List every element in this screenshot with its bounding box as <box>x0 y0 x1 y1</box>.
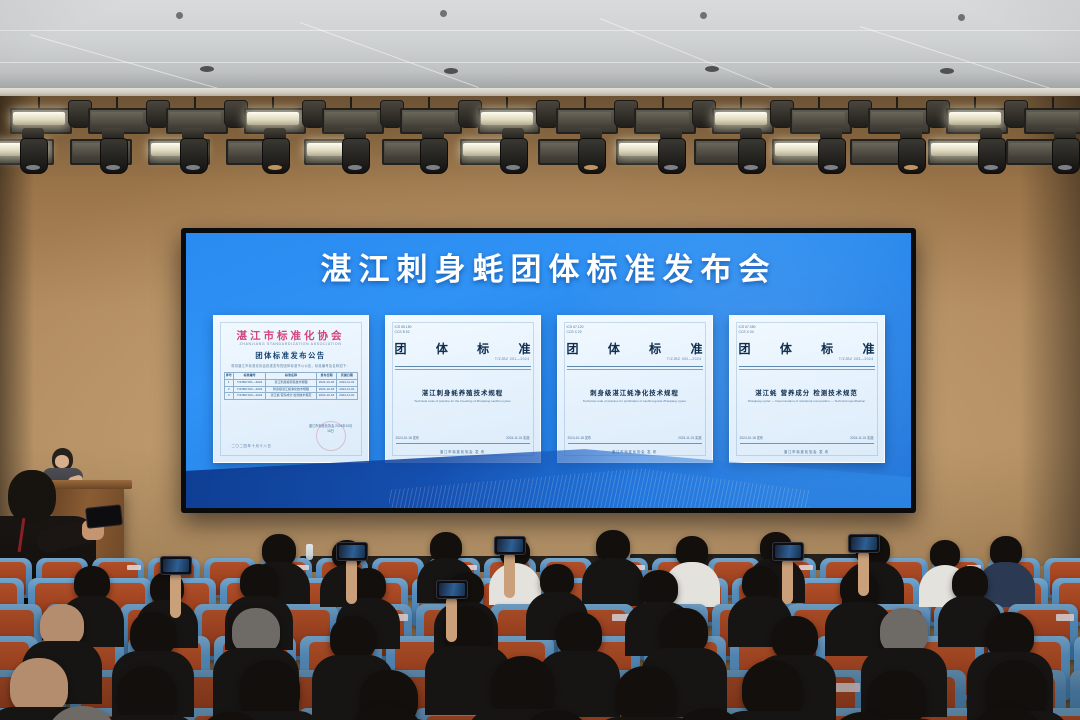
screen-title: 湛江刺身蚝团体标准发布会 <box>186 255 911 286</box>
association-name-en: ZHANJIANG STANDARDIZATION ASSOCIATION <box>214 342 368 346</box>
audience-member-head <box>742 566 778 600</box>
moving-head-light <box>100 128 126 172</box>
seat-number-label <box>835 683 860 692</box>
std-title-en: Technical code of practice for the breed… <box>396 399 530 404</box>
std-header-char: 体 <box>780 340 792 357</box>
stage-light-fixture <box>634 97 692 131</box>
smartphone-icon <box>436 580 468 599</box>
official-seal: 湛江市标准化协会 2024年10月18日 <box>308 424 354 434</box>
table-header-cell: 发布日期 <box>316 373 337 380</box>
std-header-char: 标 <box>649 340 661 357</box>
audience-member-head <box>990 536 1022 566</box>
announcement-date: 二〇二四年十月十八日 <box>232 443 272 448</box>
table-cell: 2 <box>224 386 233 393</box>
std-header-char: 准 <box>518 340 530 357</box>
std-header-char: 体 <box>436 340 448 357</box>
std-classification-code: ICS 67.050CCS X 04 <box>739 325 756 335</box>
smartphone-icon <box>772 542 804 561</box>
audience-member-head <box>118 666 176 720</box>
audience-member-head <box>676 536 708 566</box>
table-row: 3T/ZJBZ 003—2024湛江蚝 营养成分 检测技术规范2024-10-1… <box>224 393 357 400</box>
table-cell: T/ZJBZ 003—2024 <box>233 393 265 400</box>
std-number: T/ZJBZ 002—2024 <box>667 357 702 361</box>
standard-card: ICS 67.120CCS X 20团体标准T/ZJBZ 002—2024刺身级… <box>557 315 713 463</box>
audience-member-head <box>240 660 300 718</box>
association-name: 湛江市标准化协会 <box>214 328 368 343</box>
std-header-char: 体 <box>608 340 620 357</box>
moving-head-light <box>978 128 1004 172</box>
moving-head-light <box>500 128 526 172</box>
audience-member-head <box>540 564 574 596</box>
audience-member-head <box>868 670 926 720</box>
audience-member-head <box>930 540 960 568</box>
audience-member-head <box>40 604 84 646</box>
table-cell: 2024-10-18 <box>316 386 337 393</box>
standard-card: ICS 65.150CCS B 52团体标准T/ZJBZ 001—2024湛江刺… <box>385 315 541 463</box>
presenter-face <box>55 455 69 468</box>
table-header-cell: 序号 <box>224 373 233 380</box>
standard-card: ICS 67.050CCS X 04团体标准T/ZJBZ 003—2024湛江蚝… <box>729 315 885 463</box>
announcement-card: 湛江市标准化协会 ZHANJIANG STANDARDIZATION ASSOC… <box>213 315 369 463</box>
audience-member-head <box>232 608 280 654</box>
audience-area <box>0 520 1080 720</box>
audience-member-head <box>330 616 376 660</box>
moving-head-light <box>738 128 764 172</box>
table-cell: 1 <box>224 379 233 386</box>
camera-operator-head <box>8 470 56 524</box>
audience-member-head <box>616 666 676 720</box>
stage-light-fixture <box>478 97 536 131</box>
raised-arm <box>782 558 793 604</box>
table-cell: 湛江刺身蚝养殖技术规程 <box>266 379 316 386</box>
seal-ring <box>316 421 346 451</box>
table-row: 1T/ZJBZ 001—2024湛江刺身蚝养殖技术规程2024-10-18202… <box>224 379 357 386</box>
stage-light-fixture <box>790 97 848 131</box>
std-title: 刺身级湛江蚝净化技术规程 <box>570 388 700 397</box>
table-cell: 3 <box>224 393 233 400</box>
std-effective-date: 2024-11-01 实施 <box>678 435 701 440</box>
table-cell: 湛江蚝 营养成分 检测技术规范 <box>266 393 316 400</box>
raised-arm <box>858 550 869 596</box>
std-classification-code: ICS 67.120CCS X 20 <box>567 325 584 335</box>
audience-member-head <box>640 570 678 606</box>
stage-light-fixture <box>88 97 146 131</box>
std-publish-date: 2024-10-18 发布 <box>568 435 592 440</box>
seat-number-label <box>127 565 141 570</box>
table-header-cell: 标准名称 <box>266 373 316 380</box>
smartphone-icon <box>160 556 192 575</box>
stage-light-fixture <box>322 97 380 131</box>
audience-member-head <box>492 656 554 716</box>
std-header-char: 标 <box>477 340 489 357</box>
stage-light-fixture <box>166 97 224 131</box>
moving-head-light <box>1052 128 1078 172</box>
stage-light-fixture <box>712 97 770 131</box>
stage-light-fixture <box>556 97 614 131</box>
water-bottle <box>306 544 313 560</box>
std-dates: 2024-10-18 发布2024-11-01 实施 <box>740 435 874 440</box>
audience-member-head <box>660 608 708 654</box>
seat-number-label <box>799 565 813 570</box>
std-effective-date: 2024-11-01 实施 <box>506 435 529 440</box>
std-header: 团体标准 <box>739 340 875 357</box>
audience-member-head <box>742 660 802 718</box>
table-header-cell: 实施日期 <box>337 373 357 380</box>
audience-member-head <box>10 658 68 714</box>
moving-head-light <box>658 128 684 172</box>
std-publish-date: 2024-10-18 发布 <box>740 435 764 440</box>
std-header-char: 标 <box>821 340 833 357</box>
std-header: 团体标准 <box>395 340 531 357</box>
audience-member-head <box>556 612 602 656</box>
std-number: T/ZJBZ 003—2024 <box>839 357 874 361</box>
seat-number-label <box>1056 614 1074 621</box>
moving-head-light <box>342 128 368 172</box>
std-header-char: 团 <box>395 340 407 357</box>
smartphone-icon <box>336 542 368 561</box>
audience-member-head <box>240 564 278 600</box>
stage-light-fixture <box>400 97 458 131</box>
table-cell: 2024-11-01 <box>337 386 357 393</box>
table-row: 2T/ZJBZ 002—2024刺身级湛江蚝净化技术规程2024-10-1820… <box>224 386 357 393</box>
moving-head-light <box>262 128 288 172</box>
announcement-title: 团体标准发布公告 <box>214 351 368 361</box>
std-title-en: Technical code of practice for purificat… <box>568 399 702 404</box>
standards-table: 序号标准编号标准名称发布日期实施日期 1T/ZJBZ 001—2024湛江刺身蚝… <box>224 372 358 400</box>
table-cell: 2024-11-01 <box>337 393 357 400</box>
announcement-lead: 现将湛江市标准化协会批准发布的团体标准予以公告，标准编号及名称如下： <box>226 363 356 368</box>
led-screen: 湛江刺身蚝团体标准发布会 湛江市标准化协会 ZHANJIANG STANDARD… <box>186 233 911 508</box>
moving-head-light <box>898 128 924 172</box>
table-cell: 2024-10-18 <box>316 393 337 400</box>
stage-light-fixture <box>10 97 68 131</box>
std-publish-date: 2024-10-18 发布 <box>396 435 420 440</box>
table-cell: T/ZJBZ 001—2024 <box>233 379 265 386</box>
table-cell: 2024-10-18 <box>316 379 337 386</box>
audience-member-head <box>262 534 296 566</box>
table-header-row: 序号标准编号标准名称发布日期实施日期 <box>224 373 357 380</box>
raised-arm <box>446 596 457 642</box>
ceiling <box>0 0 1080 92</box>
raised-arm <box>504 552 515 598</box>
table-cell: T/ZJBZ 002—2024 <box>233 386 265 393</box>
std-title-en: Zhanjiang oyster — Determination of nutr… <box>740 399 874 404</box>
std-issuer: 湛江市标准化协会 发 布 <box>730 449 884 454</box>
std-number: T/ZJBZ 001—2024 <box>495 357 530 361</box>
std-effective-date: 2024-11-01 实施 <box>850 435 873 440</box>
led-screen-bezel: 湛江刺身蚝团体标准发布会 湛江市标准化协会 ZHANJIANG STANDARD… <box>181 228 916 513</box>
table-header-cell: 标准编号 <box>233 373 265 380</box>
raised-arm <box>346 558 357 604</box>
moving-head-light <box>578 128 604 172</box>
raised-arm <box>170 572 181 618</box>
stage-light-fixture <box>946 97 1004 131</box>
moving-head-light <box>818 128 844 172</box>
audience-member-head <box>952 566 988 600</box>
audience-member-head <box>880 608 928 654</box>
table-cell: 刺身级湛江蚝净化技术规程 <box>266 386 316 393</box>
audience-member-head <box>430 532 462 562</box>
moving-head-light <box>20 128 46 172</box>
table-cell: 2024-11-01 <box>337 379 357 386</box>
audience-member-head <box>986 612 1034 658</box>
smartphone-icon <box>848 534 880 553</box>
stage-light-fixture <box>868 97 926 131</box>
std-header-char: 团 <box>739 340 751 357</box>
standard-document-cards: 湛江市标准化协会 ZHANJIANG STANDARDIZATION ASSOC… <box>186 315 911 463</box>
std-dates: 2024-10-18 发布2024-11-01 实施 <box>396 435 530 440</box>
std-header: 团体标准 <box>567 340 703 357</box>
audience-member-head <box>596 530 630 562</box>
moving-head-light <box>180 128 206 172</box>
std-dates: 2024-10-18 发布2024-11-01 实施 <box>568 435 702 440</box>
std-header-char: 准 <box>690 340 702 357</box>
conference-hall-photo: 湛江刺身蚝团体标准发布会 湛江市标准化协会 ZHANJIANG STANDARD… <box>0 0 1080 720</box>
std-title: 湛江蚝 营养成分 检测技术规范 <box>742 388 872 397</box>
std-header-char: 准 <box>862 340 874 357</box>
audience-member-head <box>130 612 176 656</box>
std-title: 湛江刺身蚝养殖技术规程 <box>398 388 528 397</box>
audience-member-head <box>772 616 818 660</box>
stage-light-fixture <box>1024 97 1080 131</box>
stage-light-fixture <box>244 97 302 131</box>
moving-head-light <box>420 128 446 172</box>
smartphone-icon <box>494 536 526 555</box>
std-header-char: 团 <box>567 340 579 357</box>
audience-member-head <box>74 566 110 600</box>
std-classification-code: ICS 65.150CCS B 52 <box>395 325 412 335</box>
